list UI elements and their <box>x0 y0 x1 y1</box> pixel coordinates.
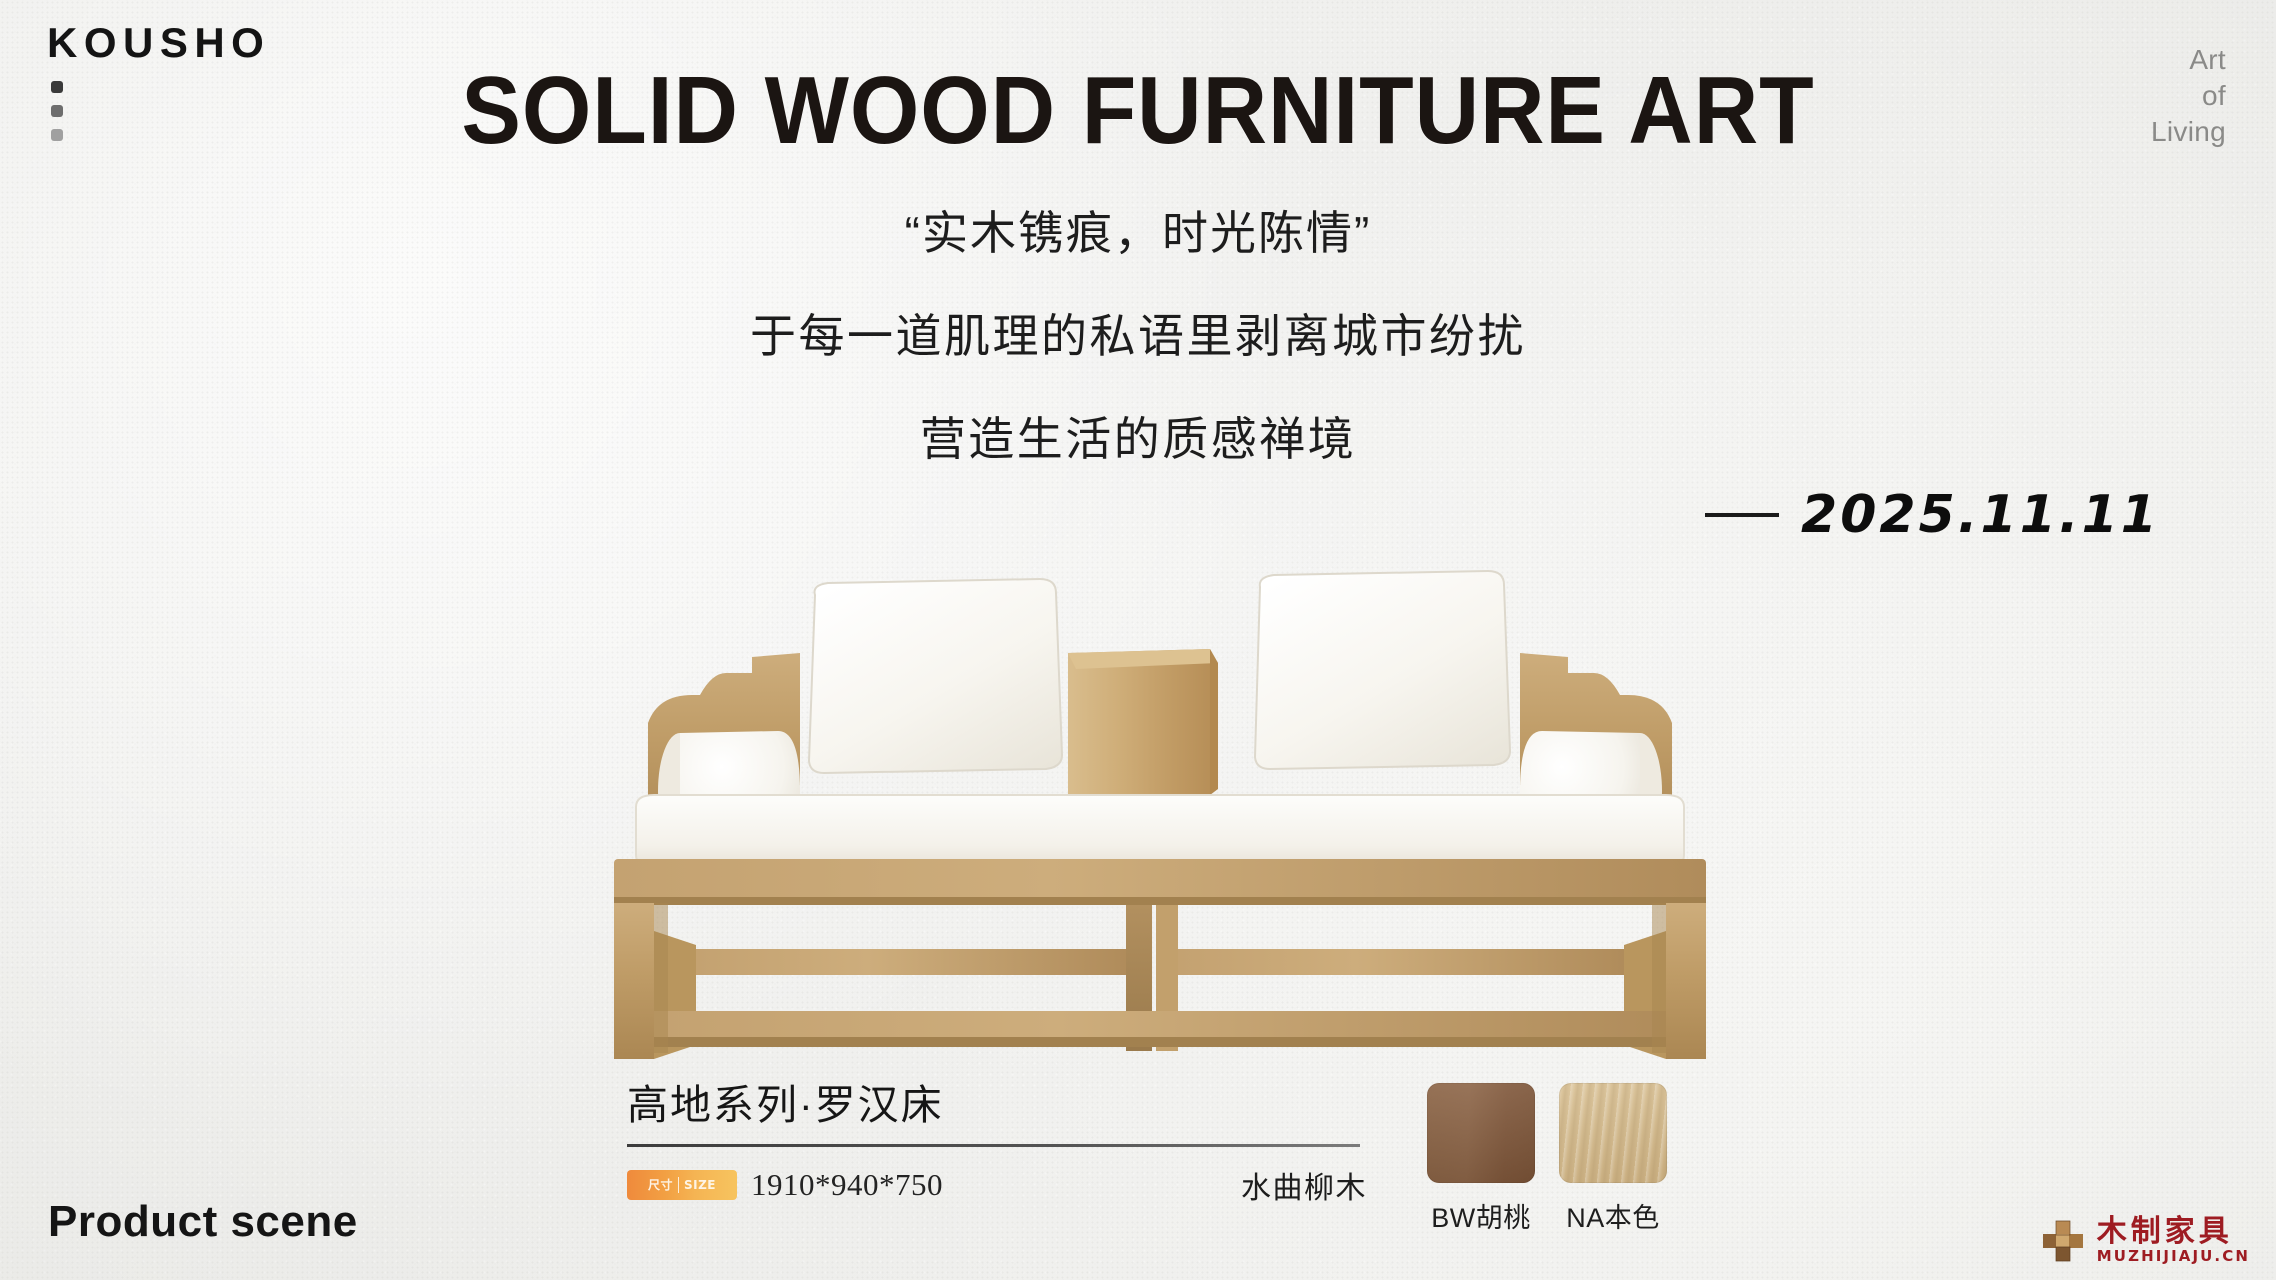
leg-front-right <box>1666 903 1706 1059</box>
seat-frame-rail <box>614 859 1706 903</box>
brand-dot-3 <box>51 129 63 141</box>
swatch-label-walnut: BW胡桃 <box>1427 1196 1535 1235</box>
product-divider <box>627 1144 1360 1147</box>
page-title: SOLID WOOD FURNITURE ART <box>80 63 2197 159</box>
stretcher-lower-shadow <box>654 1037 1666 1047</box>
stretcher-lower <box>654 1011 1666 1041</box>
brand-dot-2 <box>51 105 63 117</box>
swatch-na-natural[interactable]: NA本色 <box>1559 1083 1667 1235</box>
watermark-text: 木制家具 MUZHIJIAJU.CN <box>2097 1217 2250 1264</box>
tagline-block: “实木镌痕，时光陈情” 于每一道肌理的私语里剥离城市纷扰 营造生活的质感禅境 <box>0 210 2276 462</box>
watermark-cn: 木制家具 <box>2097 1217 2250 1247</box>
stretcher-upper-right <box>1178 949 1624 975</box>
swatch-chip-walnut[interactable] <box>1427 1083 1535 1183</box>
product-name: 高地系列·罗汉床 <box>627 1085 1367 1126</box>
date-text: 2025.11.11 <box>1801 485 2160 545</box>
size-badge: 尺寸 SIZE <box>627 1170 737 1200</box>
size-badge-label-en: SIZE <box>684 1179 716 1191</box>
art-of-living-line-1: Art <box>2151 42 2226 78</box>
tagline-line-2: 于每一道肌理的私语里剥离城市纷扰 <box>0 313 2276 359</box>
scene-caption: Product scene <box>48 1200 358 1244</box>
tagline-quote: “实木镌痕，时光陈情” <box>0 210 2276 256</box>
size-badge-label-cn: 尺寸 <box>648 1179 673 1191</box>
watermark-en: MUZHIJIAJU.CN <box>2097 1249 2250 1264</box>
leg-depth-left <box>654 903 668 1053</box>
product-meta-left: 尺寸 SIZE 1910*940*750 <box>627 1167 943 1203</box>
back-pillow-right <box>1255 571 1510 769</box>
seat-frame-shadow <box>614 897 1706 905</box>
size-badge-separator <box>678 1177 679 1193</box>
brand-wordmark: KOUSHO <box>47 22 270 64</box>
art-of-living-block: Art of Living <box>2151 42 2226 149</box>
product-dimensions: 1910*940*750 <box>751 1167 943 1203</box>
date-stamp: 2025.11.11 <box>1705 485 2160 545</box>
product-photo-luohan-bed <box>600 545 1720 1075</box>
center-tray-table-side <box>1210 649 1218 795</box>
brand-dot-1 <box>51 81 63 93</box>
leg-depth-right <box>1652 903 1666 1053</box>
leg-front-left <box>614 903 654 1059</box>
swatch-label-natural: NA本色 <box>1559 1196 1667 1235</box>
product-info-block: 高地系列·罗汉床 尺寸 SIZE 1910*940*750 水曲柳木 <box>627 1085 1367 1207</box>
swatch-bw-walnut[interactable]: BW胡桃 <box>1427 1083 1535 1235</box>
finish-swatches: BW胡桃 NA本色 <box>1427 1083 1667 1235</box>
center-tray-table <box>1068 649 1210 801</box>
art-of-living-line-2: of <box>2151 78 2226 114</box>
poster-canvas: KOUSHO SOLID WOOD FURNITURE ART Art of L… <box>0 0 2276 1280</box>
wood-cross-logo-icon <box>2041 1219 2085 1263</box>
swatch-chip-natural[interactable] <box>1559 1083 1667 1183</box>
product-meta-row: 尺寸 SIZE 1910*940*750 水曲柳木 <box>627 1163 1367 1207</box>
date-dash-rule <box>1705 513 1779 517</box>
product-material: 水曲柳木 <box>1241 1163 1367 1207</box>
seat-cushion <box>636 795 1684 867</box>
art-of-living-line-3: Living <box>2151 114 2226 150</box>
back-pillow-left <box>809 579 1062 773</box>
tagline-line-3: 营造生活的质感禅境 <box>0 416 2276 462</box>
watermark: 木制家具 MUZHIJIAJU.CN <box>2041 1217 2250 1264</box>
stretcher-upper-left <box>696 949 1126 975</box>
